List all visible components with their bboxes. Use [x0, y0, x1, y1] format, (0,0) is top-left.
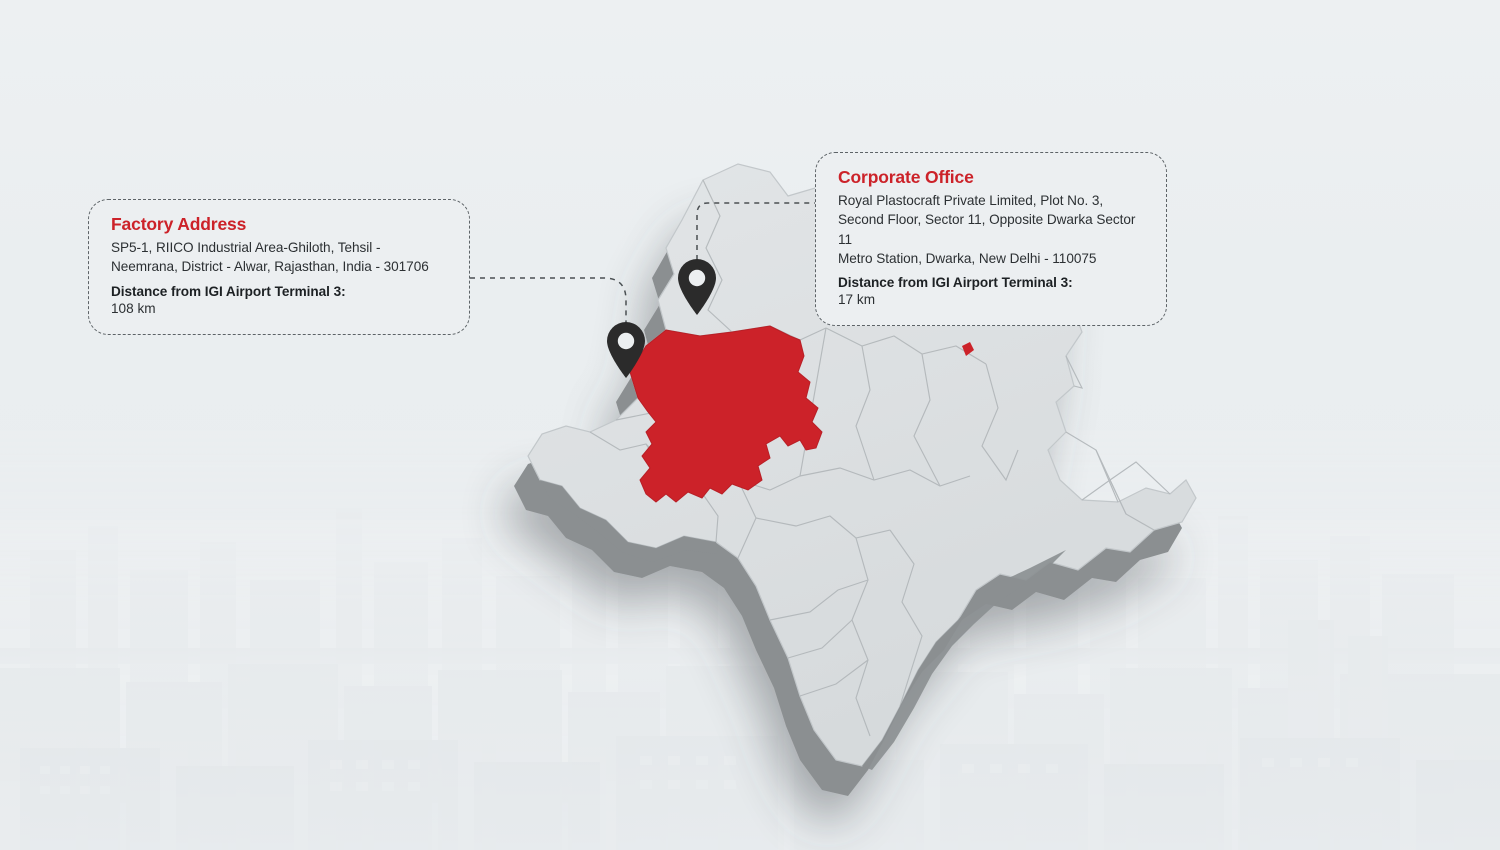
factory-card-title: Factory Address: [111, 214, 449, 235]
factory-address-card[interactable]: Factory Address SP5-1, RIICO Industrial …: [88, 199, 470, 335]
locations-map-page: Factory Address SP5-1, RIICO Industrial …: [0, 0, 1500, 850]
factory-address-line-1: SP5-1, RIICO Industrial Area-Ghiloth, Te…: [111, 238, 449, 257]
factory-address-line-2: Neemrana, District - Alwar, Rajasthan, I…: [111, 257, 449, 276]
corporate-address-line-3: Metro Station, Dwarka, New Delhi - 11007…: [838, 249, 1146, 268]
corporate-distance-value: 17 km: [838, 290, 1146, 309]
corporate-office-card[interactable]: Corporate Office Royal Plastocraft Priva…: [815, 152, 1167, 326]
corporate-distance-label: Distance from IGI Airport Terminal 3:: [838, 275, 1146, 290]
corporate-address-line-2: Second Floor, Sector 11, Opposite Dwarka…: [838, 210, 1146, 249]
corporate-address-line-1: Royal Plastocraft Private Limited, Plot …: [838, 191, 1146, 210]
factory-distance-value: 108 km: [111, 299, 449, 318]
factory-distance-label: Distance from IGI Airport Terminal 3:: [111, 284, 449, 299]
corporate-card-title: Corporate Office: [838, 167, 1146, 188]
